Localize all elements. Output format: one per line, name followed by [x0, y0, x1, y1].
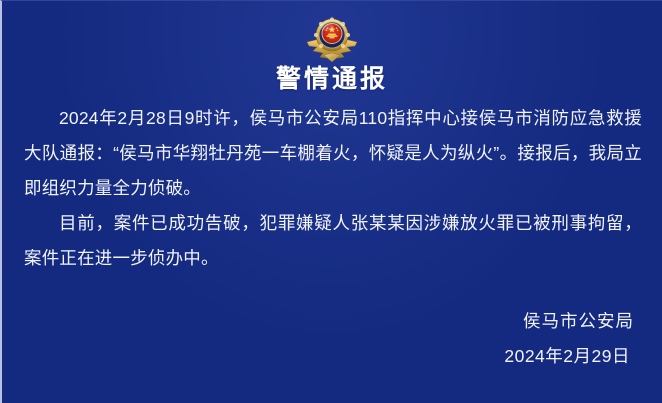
china-police-badge-icon — [303, 12, 361, 64]
signature-block: 侯马市公安局 2024年2月29日 — [504, 304, 634, 374]
signature-date: 2024年2月29日 — [504, 339, 630, 374]
emblem-container — [2, 12, 662, 64]
paragraph-1: 2024年2月28日9时许，侯马市公安局110指挥中心接侯马市消防应急救援大队通… — [24, 101, 642, 206]
announcement-body: 2024年2月28日9时许，侯马市公安局110指挥中心接侯马市消防应急救援大队通… — [24, 101, 642, 276]
police-announcement-poster: 警情通报 2024年2月28日9时许，侯马市公安局110指挥中心接侯马市消防应急… — [0, 0, 662, 403]
paragraph-2: 目前，案件已成功告破，犯罪嫌疑人张某某因涉嫌放火罪已被刑事拘留，案件正在进一步侦… — [24, 206, 642, 276]
page-title: 警情通报 — [2, 63, 662, 95]
signature-organization: 侯马市公安局 — [504, 304, 634, 339]
